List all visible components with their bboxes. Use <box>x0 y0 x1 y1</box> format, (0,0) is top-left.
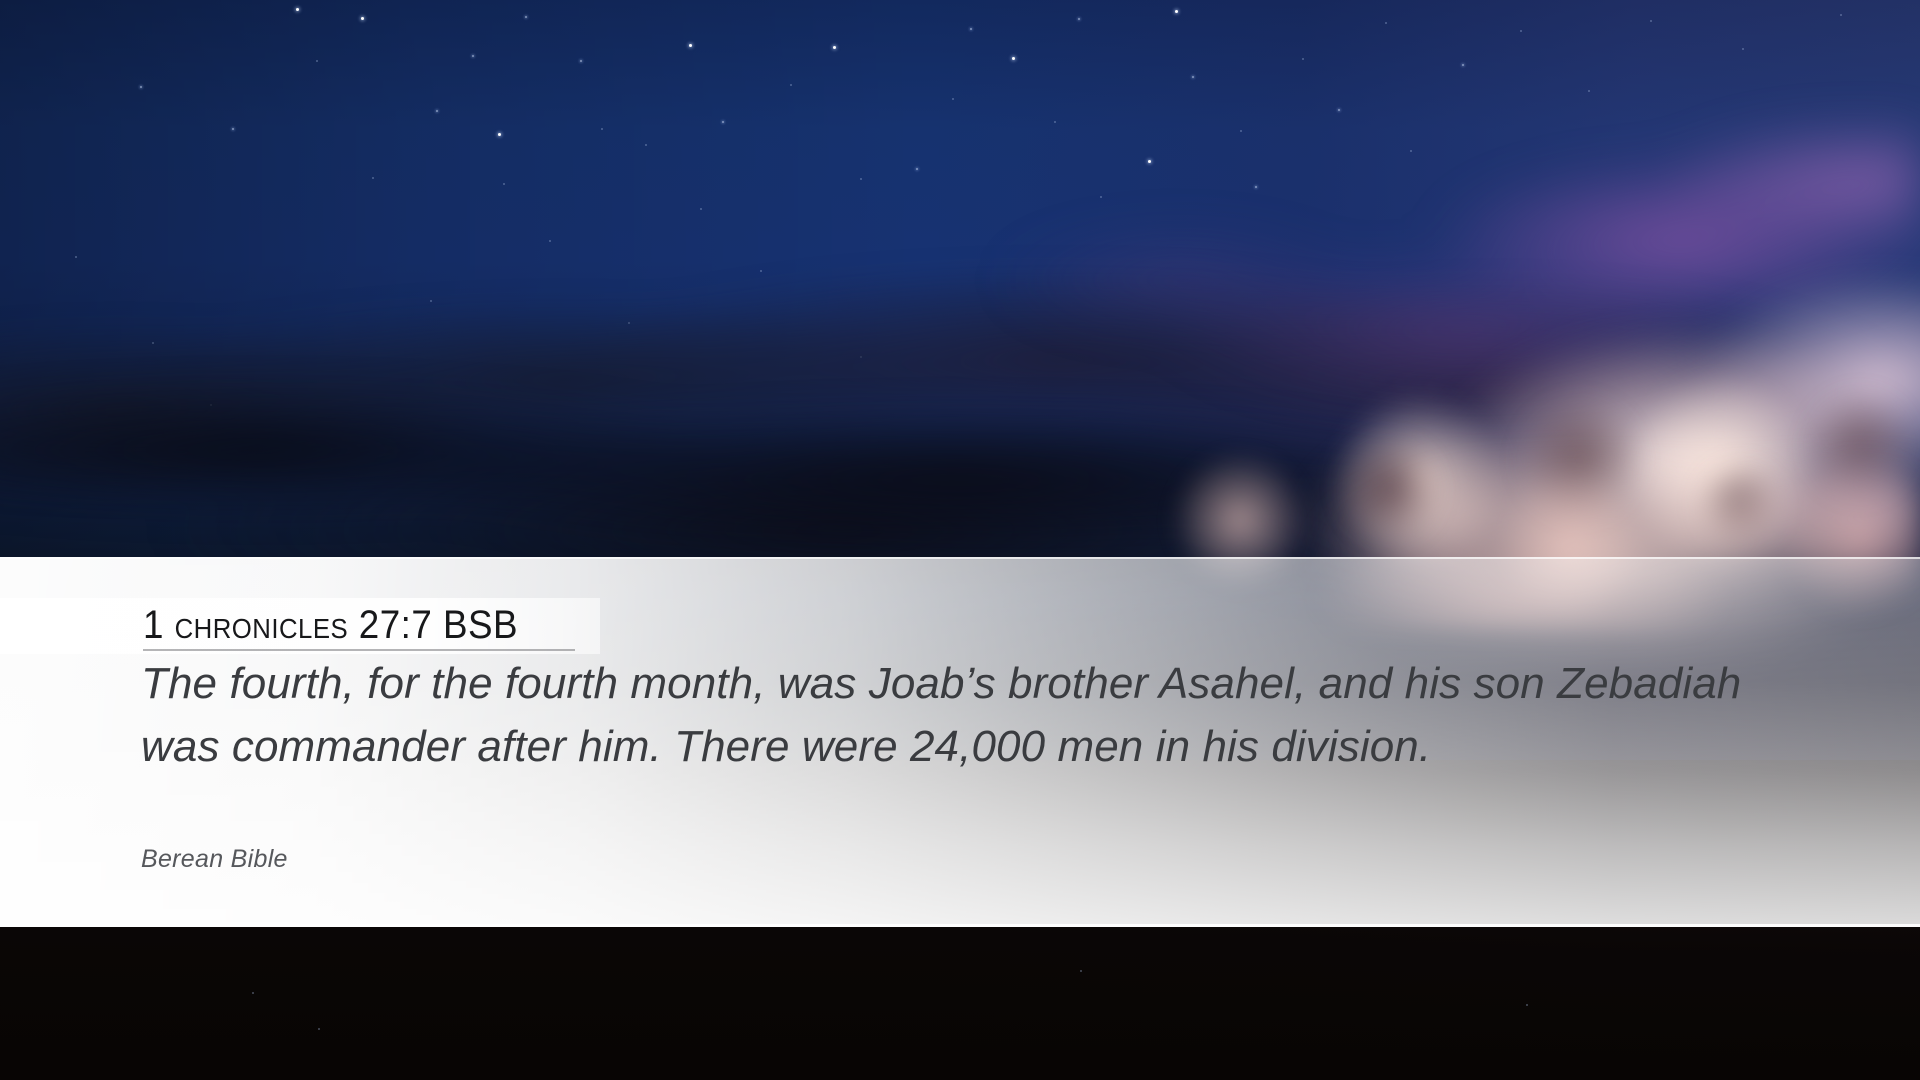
star-dot <box>689 44 692 47</box>
reference-lead: 1 <box>143 603 175 647</box>
star-dot <box>318 1028 320 1030</box>
star-dot <box>1080 970 1082 972</box>
star-dot <box>916 168 918 170</box>
verse-attribution: Berean Bible <box>141 845 288 874</box>
star-dot <box>1462 64 1464 66</box>
star-dot <box>1175 10 1178 13</box>
star-dot <box>1742 48 1744 50</box>
star-dot <box>1192 76 1194 78</box>
verse-overlay-panel: 1 Chronicles 27:7 BSB The fourth, for th… <box>0 557 1920 927</box>
star-dot <box>1338 109 1340 111</box>
verse-reference: 1 Chronicles 27:7 BSB <box>143 603 518 647</box>
star-dot <box>472 55 474 57</box>
verse-content: 1 Chronicles 27:7 BSB The fourth, for th… <box>0 557 1920 927</box>
star-dot <box>316 60 318 62</box>
star-dot <box>1526 1004 1528 1006</box>
star-dot <box>525 16 527 18</box>
star-dot <box>372 177 374 179</box>
star-dot <box>498 133 501 136</box>
star-dot <box>952 98 954 100</box>
star-dot <box>140 86 142 88</box>
star-dot <box>1588 90 1590 92</box>
star-dot <box>645 144 647 146</box>
star-dot <box>1012 57 1015 60</box>
star-dot <box>833 46 836 49</box>
star-dot <box>700 208 702 210</box>
wallpaper-canvas: 1 Chronicles 27:7 BSB The fourth, for th… <box>0 0 1920 1080</box>
star-dot <box>860 178 862 180</box>
star-dot <box>1840 14 1842 16</box>
star-dot <box>1650 20 1652 22</box>
star-dot <box>1385 22 1387 24</box>
star-dot <box>1078 18 1080 20</box>
reference-underline <box>143 649 575 651</box>
star-dot <box>1520 30 1522 32</box>
star-dot <box>361 17 364 20</box>
star-dot <box>252 992 254 994</box>
star-dot <box>601 128 603 130</box>
reference-tail: 27:7 BSB <box>348 603 518 647</box>
star-dot <box>232 128 234 130</box>
star-dot <box>970 28 972 30</box>
star-dot <box>1302 58 1304 60</box>
star-dot <box>503 183 505 185</box>
reference-book: Chronicles <box>175 603 349 647</box>
verse-text: The fourth, for the fourth month, was Jo… <box>141 652 1781 778</box>
star-dot <box>580 60 582 62</box>
star-dot <box>436 110 438 112</box>
star-dot <box>722 121 724 123</box>
star-dot <box>790 84 792 86</box>
lower-sparkle-field <box>0 930 1920 1080</box>
star-dot <box>296 8 299 11</box>
